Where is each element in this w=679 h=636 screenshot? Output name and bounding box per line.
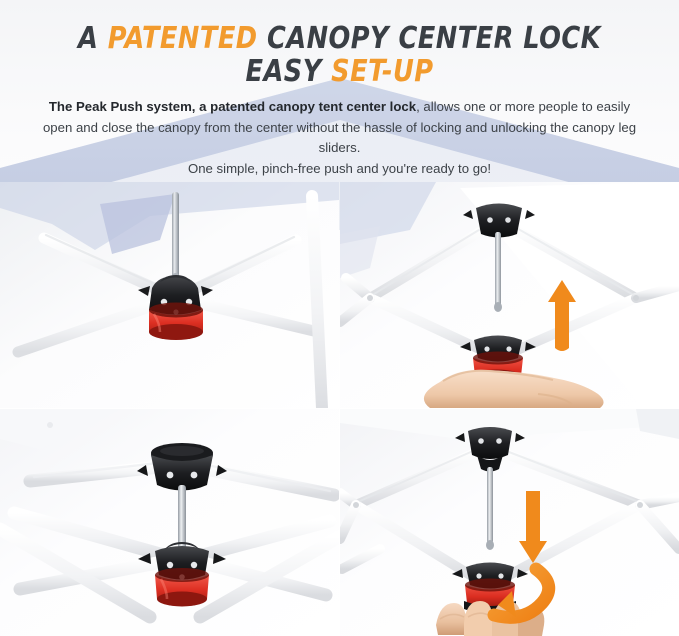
body-copy: The Peak Push system, a patented canopy … — [0, 97, 679, 179]
panel-extended — [0, 409, 339, 636]
photo-grid — [0, 182, 679, 636]
panel-push-up — [340, 182, 679, 408]
infographic-root: A PATENTED CANOPY CENTER LOCK EASY SET-U… — [0, 0, 679, 636]
panel-release-down — [340, 409, 679, 636]
panel-closed-lock — [0, 182, 339, 408]
body-copy-bold-lead: The Peak Push system, a patented canopy … — [49, 99, 416, 114]
headline-text-b: CANOPY CENTER LOCK — [258, 21, 601, 56]
body-copy-closing: One simple, pinch-free push and you're r… — [188, 161, 491, 176]
headline-accent-patented: PATENTED — [108, 21, 258, 56]
headline-line-2: EASY SET-UP — [17, 55, 662, 88]
header: A PATENTED CANOPY CENTER LOCK EASY SET-U… — [0, 0, 679, 179]
headline-accent-setup: SET-UP — [331, 54, 433, 89]
headline-text-c: EASY — [245, 54, 331, 89]
headline-line-1: A PATENTED CANOPY CENTER LOCK — [17, 22, 662, 55]
headline-text-a: A — [78, 21, 108, 56]
